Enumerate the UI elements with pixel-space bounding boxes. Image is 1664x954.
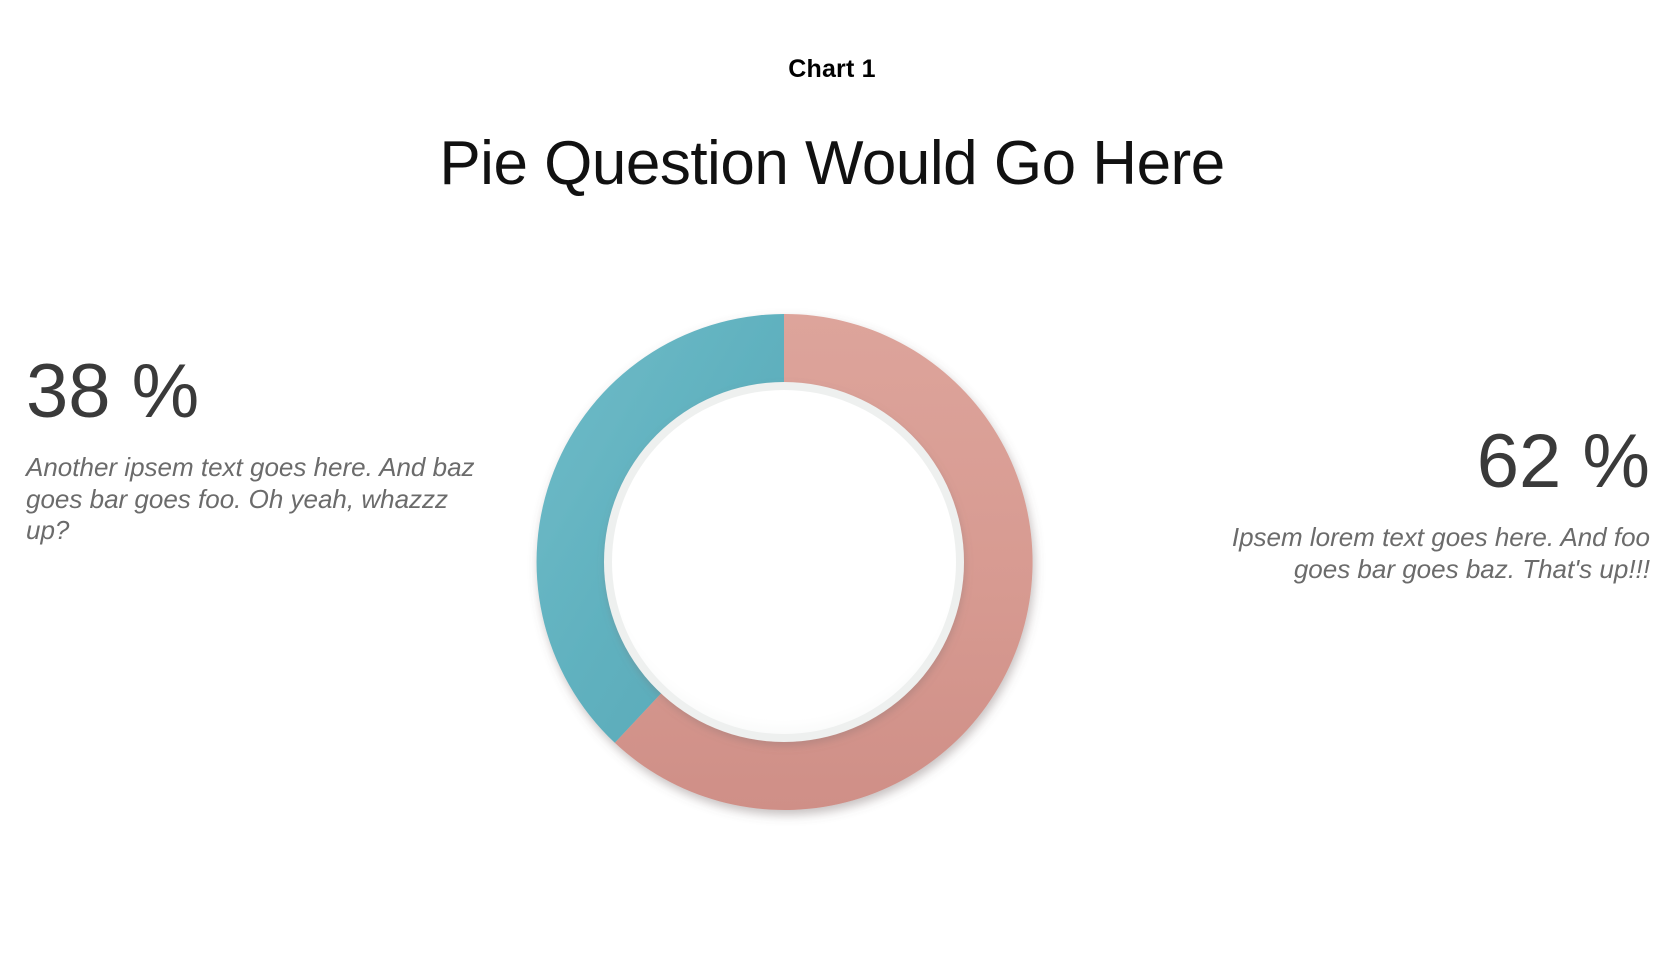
- callout-right: 62 % Ipsem lorem text goes here. And foo…: [1220, 424, 1650, 585]
- callout-left: 38 % Another ipsem text goes here. And b…: [26, 354, 496, 547]
- page-title: Pie Question Would Go Here: [0, 128, 1664, 199]
- callout-description-right: Ipsem lorem text goes here. And foo goes…: [1220, 522, 1650, 585]
- donut-chart-svg: [520, 298, 1048, 826]
- donut-chart: [520, 298, 1048, 826]
- chart-number-label: Chart 1: [0, 55, 1664, 84]
- percent-value-left: 38 %: [26, 354, 496, 430]
- percent-value-right: 62 %: [1220, 424, 1650, 500]
- callout-description-left: Another ipsem text goes here. And baz go…: [26, 452, 496, 547]
- donut-hole: [612, 390, 956, 734]
